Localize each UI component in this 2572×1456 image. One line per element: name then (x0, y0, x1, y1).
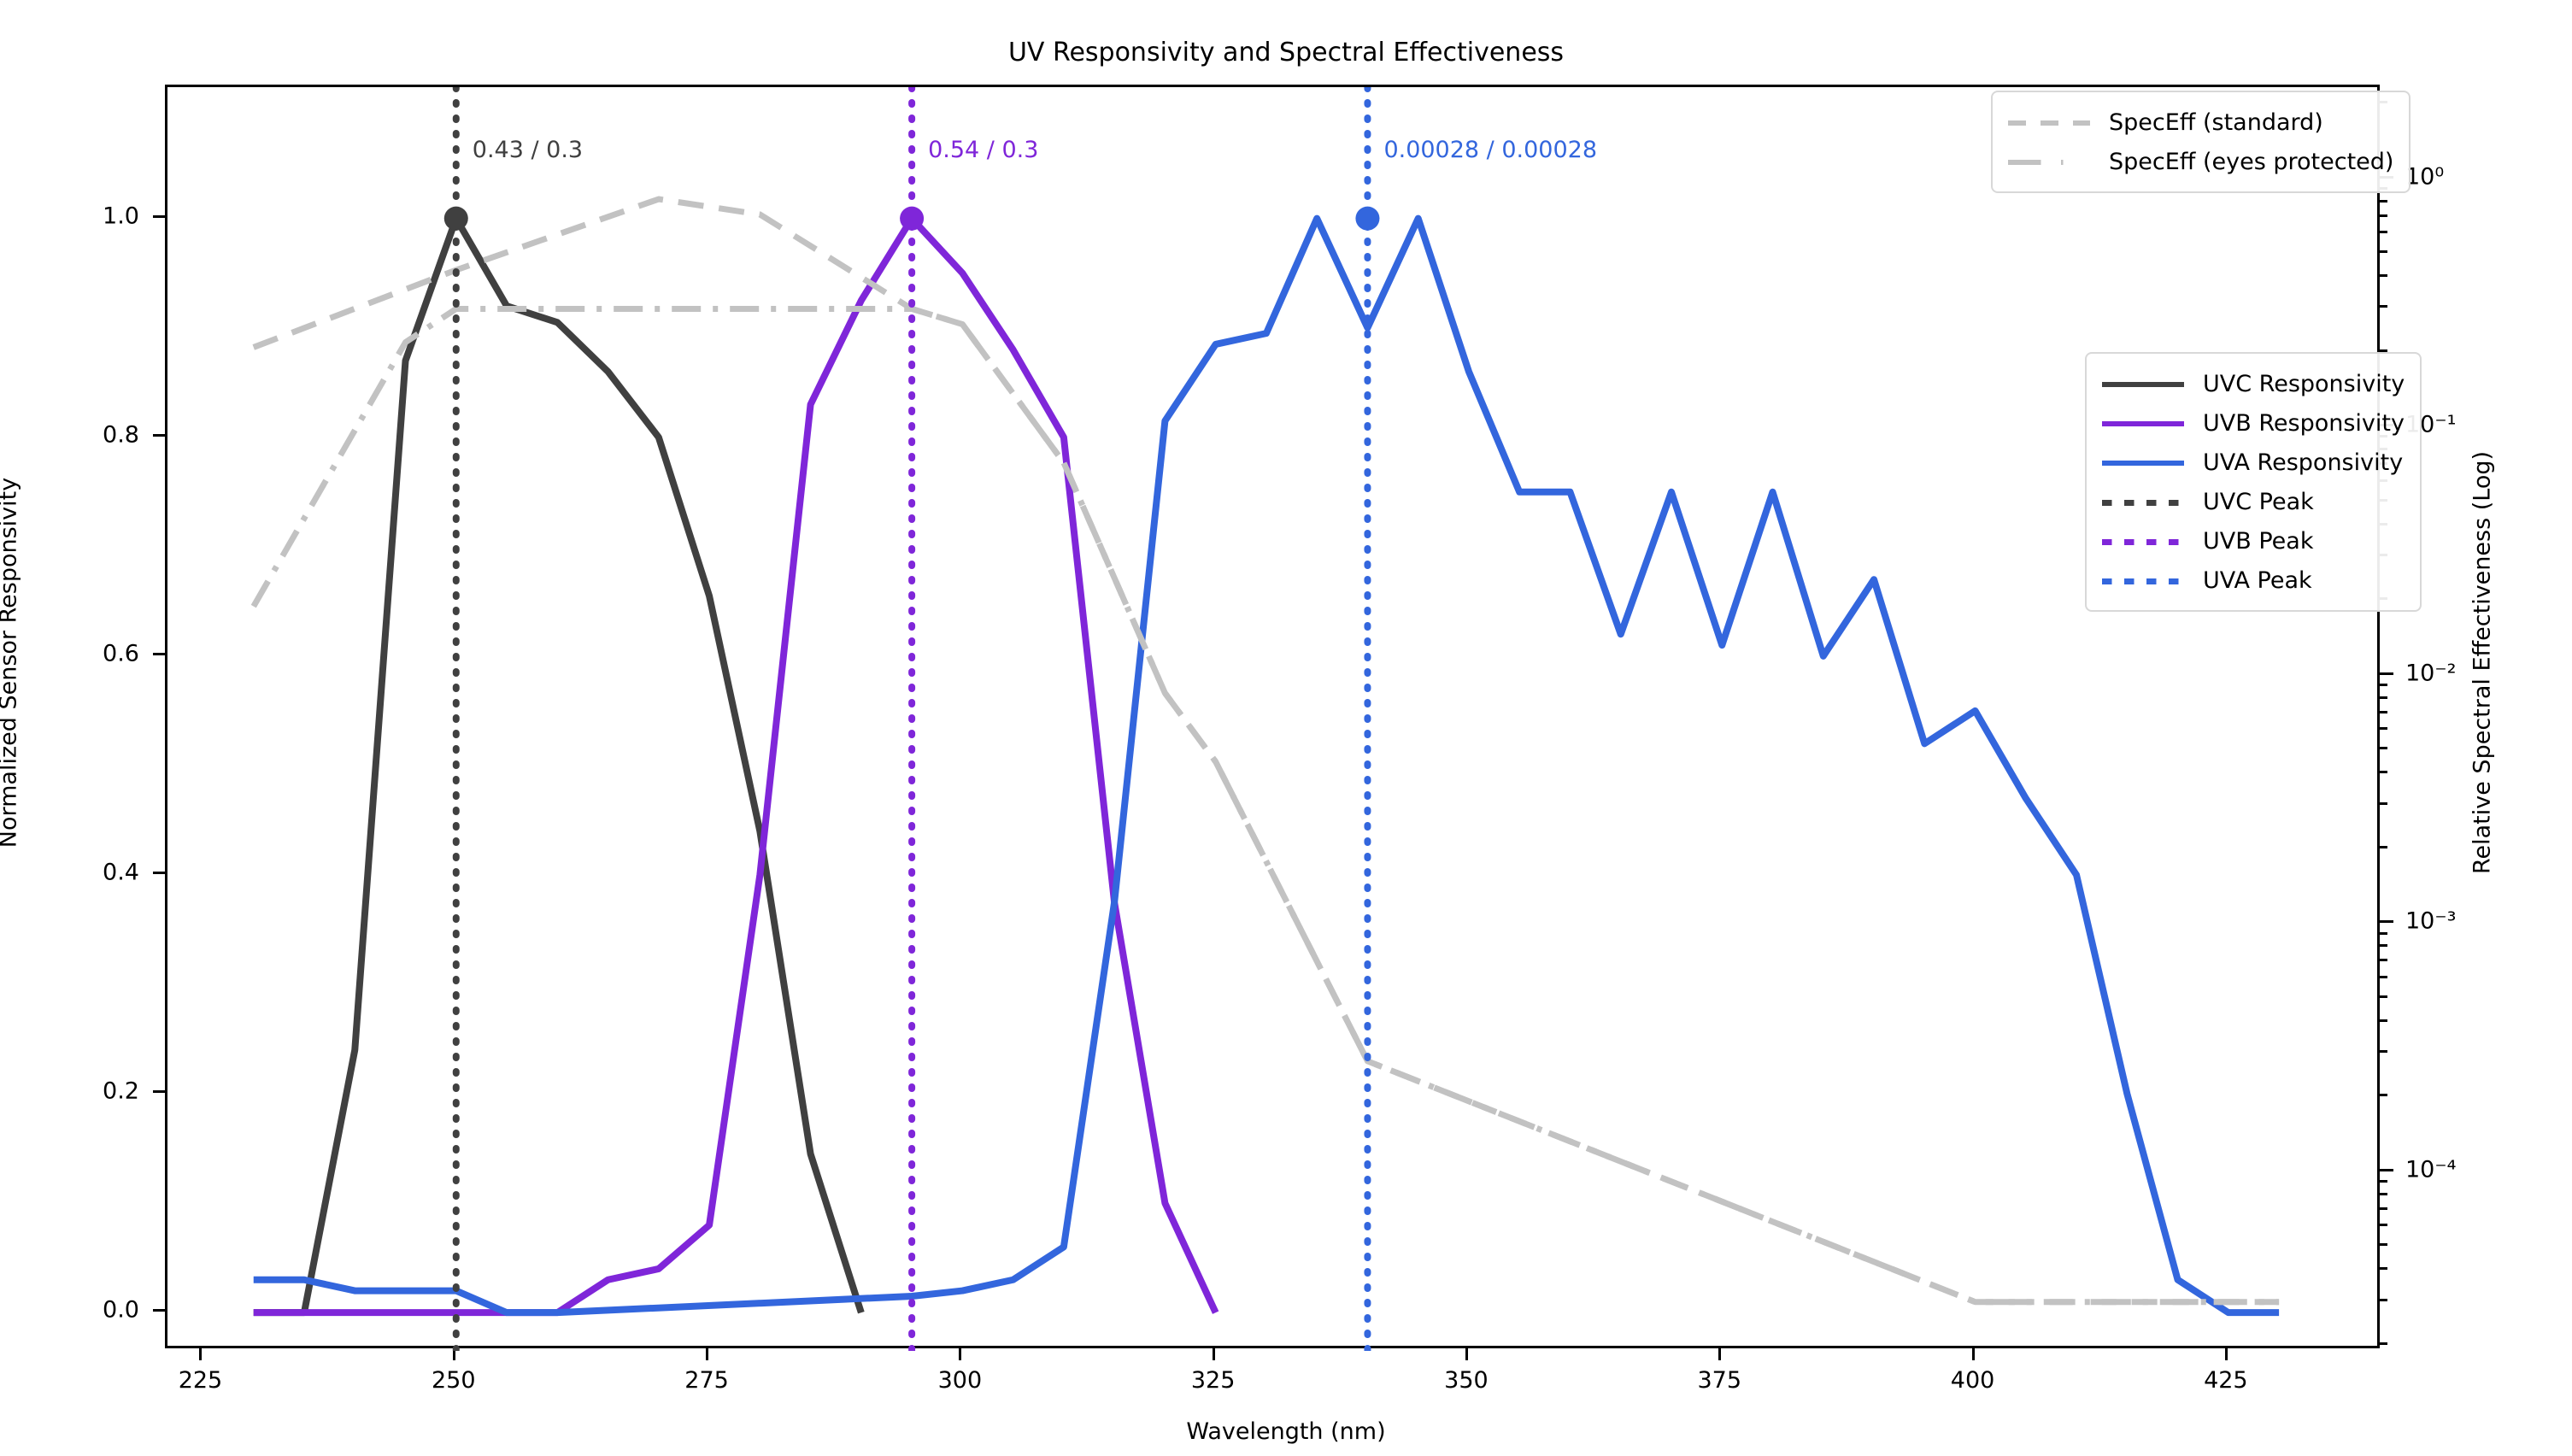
y-tick-label: 0.4 (103, 859, 139, 885)
legend-swatch-dashed-icon (2008, 114, 2090, 131)
legend-item-label: SpecEff (eyes protected) (2109, 149, 2393, 175)
legend-swatch-dashdot-icon (2008, 153, 2090, 170)
y-tick-mark (153, 653, 165, 655)
x-tick-label: 300 (938, 1367, 983, 1394)
legend-line-sample (2102, 578, 2184, 584)
peak-marker-uva-peak (1355, 207, 1379, 231)
y-tick-mark (153, 1090, 165, 1093)
series-line-speceff-standard (254, 199, 2279, 1302)
legend-swatch-solid-icon (2102, 414, 2184, 432)
y-tick-label: 0.8 (103, 421, 139, 448)
legend-line-sample (2102, 421, 2184, 426)
peak-annotation: 0.43 / 0.3 (473, 137, 583, 163)
x-tick-label: 225 (179, 1367, 223, 1394)
legend-line-sample (2102, 539, 2184, 545)
secondary-y-tick-label: 10⁰ (2405, 163, 2444, 190)
y-tick-label: 0.0 (103, 1297, 139, 1324)
y-tick-mark (153, 434, 165, 437)
legend-swatch-dotted-icon (2102, 493, 2184, 510)
legend-speceff[interactable]: SpecEff (standard)SpecEff (eyes protecte… (1991, 91, 2411, 193)
legend-item[interactable]: UVC Responsivity (2102, 364, 2405, 403)
y-tick-mark (153, 1309, 165, 1312)
chart-title: UV Responsivity and Spectral Effectivene… (0, 38, 2572, 68)
legend-item-label: UVA Peak (2203, 567, 2312, 594)
y-tick-label: 0.2 (103, 1078, 139, 1105)
x-tick-label: 375 (1697, 1367, 1741, 1394)
y-tick-mark (153, 215, 165, 218)
peak-marker-uvb-peak (900, 207, 924, 231)
y-axis-label: Normalized Sensor Responsivity (0, 108, 22, 1218)
legend-swatch-solid-icon (2102, 375, 2184, 392)
x-axis-label: Wavelength (nm) (0, 1418, 2572, 1445)
plot-area (165, 85, 2380, 1348)
legend-item[interactable]: UVA Responsivity (2102, 443, 2405, 482)
legend-item-label: UVC Responsivity (2203, 371, 2405, 397)
legend-line-sample (2102, 382, 2184, 387)
x-tick-label: 325 (1191, 1367, 1236, 1394)
series-line-uvb-responsivity (254, 219, 1216, 1313)
series-line-uva-responsivity (254, 219, 2279, 1313)
legend-item-label: UVA Responsivity (2203, 449, 2403, 476)
secondary-y-axis-label: Relative Spectral Effectiveness (Log) (2469, 108, 2496, 1218)
legend-item[interactable]: UVA Peak (2102, 561, 2405, 600)
peak-annotation: 0.54 / 0.3 (928, 137, 1038, 163)
legend-item-label: UVB Responsivity (2203, 410, 2405, 437)
x-tick-label: 250 (432, 1367, 476, 1394)
plot-canvas (167, 87, 2382, 1351)
x-tick-label: 350 (1444, 1367, 1489, 1394)
legend-item[interactable]: UVC Peak (2102, 482, 2405, 521)
legend-item-label: UVB Peak (2203, 528, 2313, 555)
legend-item-label: UVC Peak (2203, 489, 2314, 515)
secondary-y-tick-label: 10⁻⁴ (2405, 1156, 2456, 1183)
legend-line-sample (2102, 461, 2184, 466)
legend-line-sample (2102, 500, 2184, 506)
y-tick-label: 0.6 (103, 640, 139, 666)
legend-item[interactable]: UVB Responsivity (2102, 403, 2405, 443)
legend-swatch-solid-icon (2102, 454, 2184, 471)
legend-swatch-dotted-icon (2102, 532, 2184, 549)
legend-responsivity[interactable]: UVC ResponsivityUVB ResponsivityUVA Resp… (2085, 352, 2422, 612)
peak-annotation: 0.00028 / 0.00028 (1383, 137, 1597, 163)
x-tick-label: 425 (2204, 1367, 2248, 1394)
peak-marker-uvc-peak (444, 207, 468, 231)
y-tick-mark (153, 872, 165, 874)
secondary-y-tick-label: 10⁻² (2405, 660, 2456, 686)
legend-item[interactable]: UVB Peak (2102, 521, 2405, 561)
legend-line-sample (2008, 160, 2090, 165)
legend-swatch-dotted-icon (2102, 572, 2184, 589)
legend-line-sample (2008, 120, 2090, 126)
x-tick-label: 275 (684, 1367, 729, 1394)
legend-item[interactable]: SpecEff (eyes protected) (2008, 142, 2393, 181)
x-tick-label: 400 (1951, 1367, 1995, 1394)
series-line-speceff-eyes-protected (254, 308, 2279, 1301)
y-tick-label: 1.0 (103, 203, 139, 229)
secondary-y-tick-label: 10⁻³ (2405, 908, 2456, 935)
legend-item[interactable]: SpecEff (standard) (2008, 103, 2393, 142)
legend-item-label: SpecEff (standard) (2109, 109, 2323, 136)
chart-figure: UV Responsivity and Spectral Effectivene… (0, 0, 2572, 1456)
